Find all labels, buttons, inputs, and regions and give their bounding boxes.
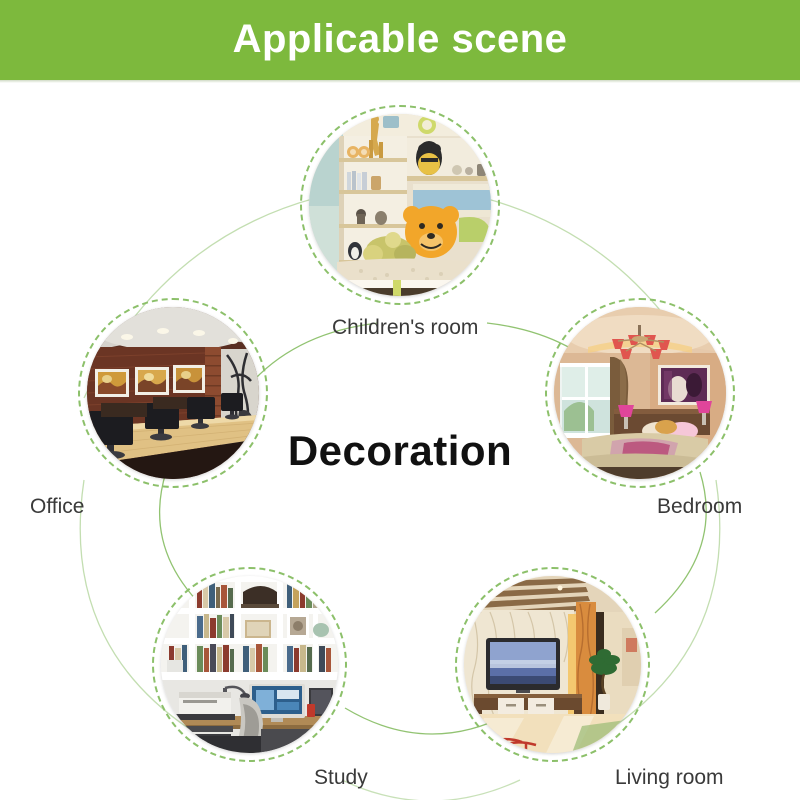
page-title: Applicable scene xyxy=(233,19,568,59)
scene-label-children-room: Children's room xyxy=(332,317,478,338)
scene-label-office: Office xyxy=(30,496,84,517)
scene-node-children-room[interactable]: Children's room xyxy=(300,105,500,305)
infographic-page: Applicable scene xyxy=(0,0,800,800)
photo-living-room[interactable] xyxy=(464,576,641,753)
photo-children-room[interactable] xyxy=(309,114,491,296)
scene-label-bedroom: Bedroom xyxy=(657,496,742,517)
scene-node-study[interactable]: Study xyxy=(152,567,347,762)
scene-node-living-room[interactable]: Living room xyxy=(455,567,650,762)
link-bedroom-living xyxy=(655,472,706,613)
scene-label-study: Study xyxy=(314,767,368,788)
center-title: Decoration xyxy=(0,430,800,472)
header-banner: Applicable scene xyxy=(0,0,800,80)
photo-study[interactable] xyxy=(161,576,338,753)
scene-label-living-room: Living room xyxy=(615,767,724,788)
scene-diagram: Children's room xyxy=(0,80,800,800)
link-arc-outer-bottom xyxy=(342,780,520,800)
